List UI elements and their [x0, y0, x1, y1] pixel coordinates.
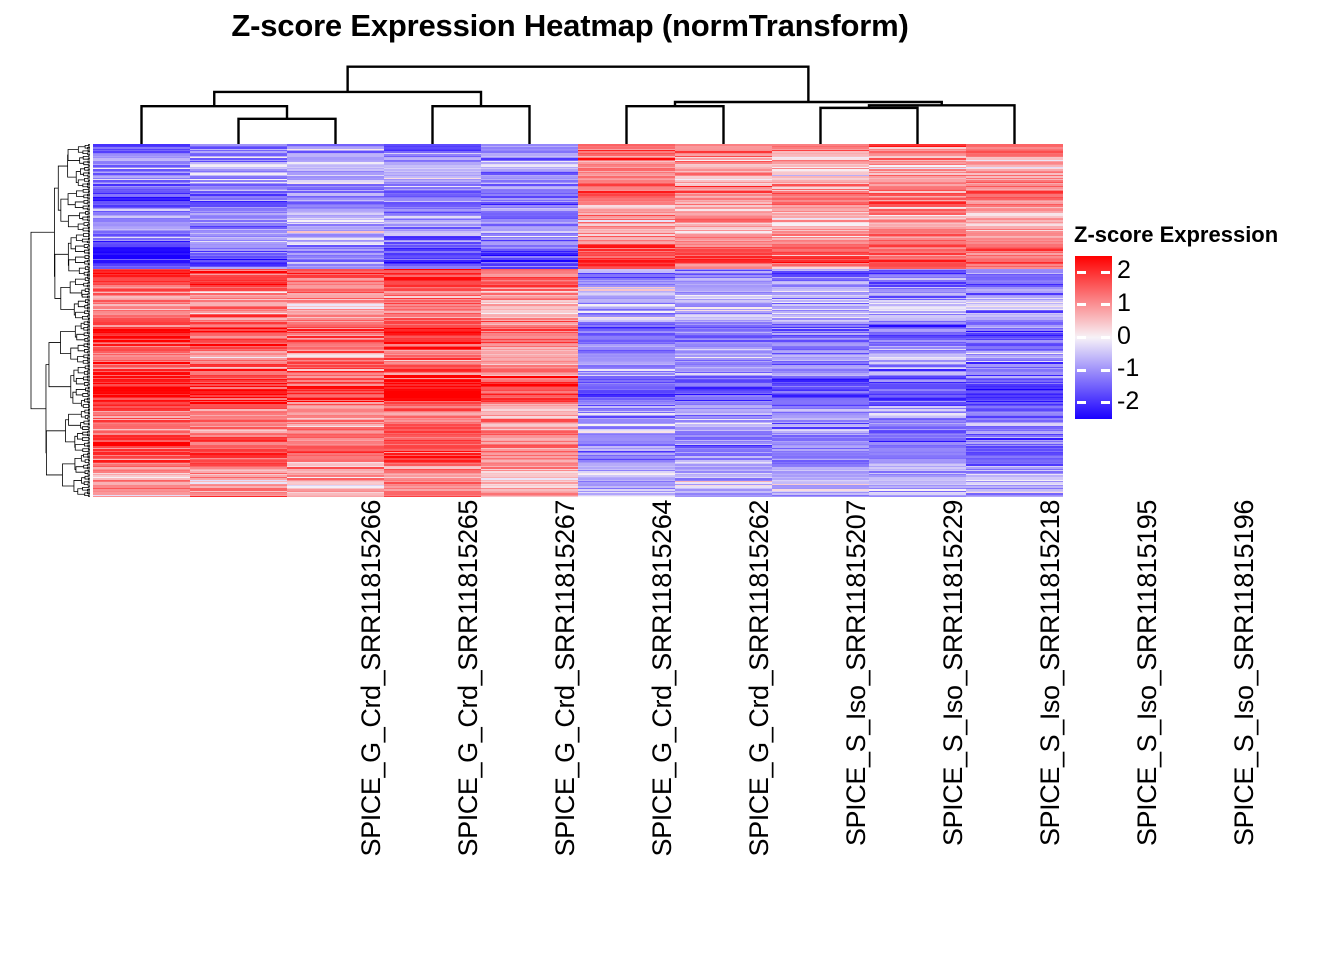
- dendrogram-link: [142, 106, 288, 144]
- dendrogram-link: [348, 67, 809, 102]
- row-dendrogram-canvas: [18, 144, 90, 497]
- legend-tick-mark: [1077, 401, 1086, 404]
- legend-tick-mark: [1101, 271, 1110, 274]
- column-dendrogram-svg: [93, 60, 1063, 144]
- dendrogram-link: [627, 106, 724, 144]
- legend-tick-label: -2: [1117, 389, 1139, 414]
- dendrogram-link: [433, 106, 530, 144]
- legend-tick-label: 1: [1117, 291, 1131, 316]
- legend-tick-mark: [1101, 336, 1110, 339]
- legend-title: Z-score Expression: [1074, 222, 1278, 248]
- legend-tick-mark: [1077, 303, 1086, 306]
- dendrogram-link: [214, 92, 481, 106]
- page-title: Z-score Expression Heatmap (normTransfor…: [0, 8, 1140, 44]
- legend-tick-mark: [1101, 303, 1110, 306]
- legend-tick-mark: [1101, 401, 1110, 404]
- legend-tick-mark: [1077, 336, 1086, 339]
- legend-tick-mark: [1077, 271, 1086, 274]
- dendrogram-link: [821, 108, 918, 144]
- row-dendrogram: [18, 144, 90, 497]
- colorbar-legend: Z-score Expression 210-1-2: [1072, 222, 1332, 432]
- column-label: SPICE_S_Iso_SRR11815196: [1029, 500, 1344, 930]
- column-labels: SPICE_G_Crd_SRR11815266SPICE_G_Crd_SRR11…: [93, 500, 1063, 930]
- legend-colorbar: [1075, 256, 1112, 419]
- heatmap-figure: Z-score Expression Heatmap (normTransfor…: [0, 0, 1344, 960]
- heatmap-matrix: [93, 144, 1063, 497]
- dendrogram-link: [869, 105, 1015, 144]
- legend-tick-label: 2: [1117, 258, 1131, 283]
- heatmap-cells-canvas: [93, 144, 1063, 497]
- dendrogram-link: [239, 119, 336, 144]
- legend-tick-label: -1: [1117, 356, 1139, 381]
- legend-tick-mark: [1077, 369, 1086, 372]
- column-dendrogram: [93, 60, 1063, 144]
- legend-tick-mark: [1101, 369, 1110, 372]
- legend-tick-label: 0: [1117, 324, 1131, 349]
